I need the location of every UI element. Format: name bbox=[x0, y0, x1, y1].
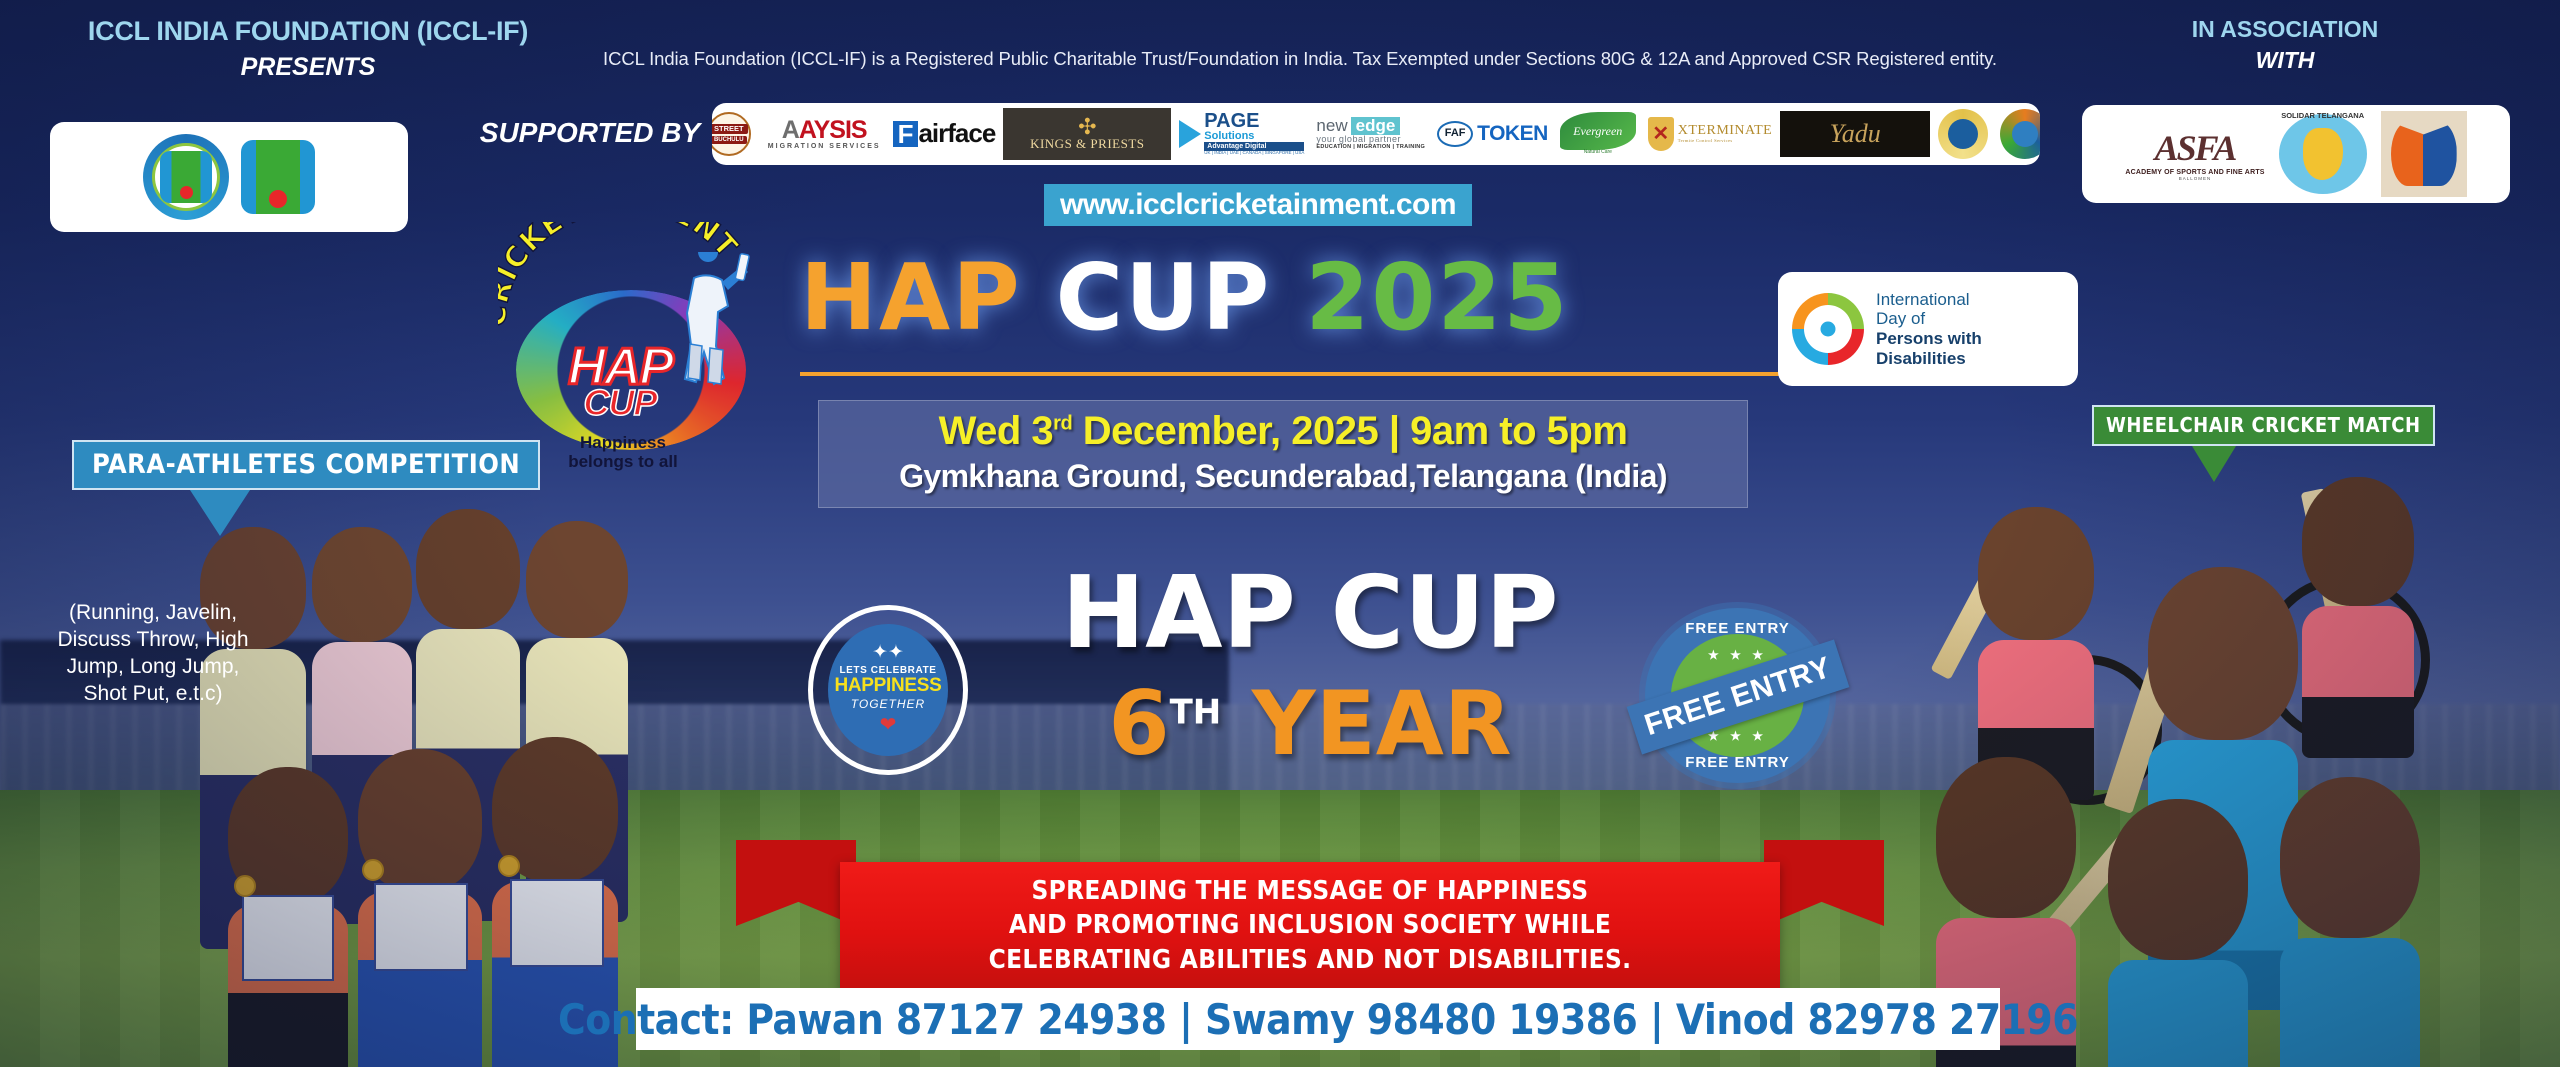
para-events-list: (Running, Javelin, Discuss Throw, High J… bbox=[48, 600, 258, 708]
sponsor-logo-bcci bbox=[1996, 108, 2040, 160]
callout-pointer bbox=[2192, 446, 2236, 482]
international-day-persons-disabilities-card: International Day of Persons with Disabi… bbox=[1778, 272, 2078, 386]
heart-icon: ❤ bbox=[880, 712, 897, 737]
cricketer-photo bbox=[1978, 507, 2094, 767]
hap-cup-tagline: Happiness belongs to all bbox=[528, 434, 718, 471]
event-datetime-venue: Wed 3rd December, 2025 | 9am to 5pm Gymk… bbox=[818, 400, 1748, 508]
mission-statement-ribbon: SPREADING THE MESSAGE OF HAPPINESS AND P… bbox=[840, 862, 1780, 991]
ribbon-line-2: AND PROMOTING INCLUSION SOCIETY WHILE bbox=[840, 908, 1780, 942]
headline-divider bbox=[800, 372, 1790, 376]
callout-pointer bbox=[190, 490, 250, 536]
sponsor-logo-xterminate: ✕ XTERMINATETermite Control Services bbox=[1644, 108, 1776, 160]
cricketer-photo bbox=[2280, 777, 2420, 1067]
association-header: IN ASSOCIATION WITH bbox=[2050, 16, 2520, 74]
cricketainment-hap-cup-logo: CRICKETAINMENT HAP CUP Happiness belongs… bbox=[488, 222, 768, 462]
idpd-text: International Day of Persons with Disabi… bbox=[1876, 290, 1982, 368]
event-venue: Gymkhana Ground, Secunderabad,Telangana … bbox=[833, 458, 1733, 495]
ribbon-line-1: SPREADING THE MESSAGE OF HAPPINESS bbox=[840, 874, 1780, 908]
callout-para-athletes-label: PARA-ATHLETES COMPETITION bbox=[72, 440, 540, 490]
free-entry-stamp: FREE ENTRY ★ ★ ★ ★ ★ ★ FREE ENTRY FREE E… bbox=[1645, 608, 1830, 783]
hap-cup-wordmark: HAP CUP bbox=[530, 344, 710, 419]
contact-bar: Contact: Pawan 87127 24938 | Swamy 98480… bbox=[636, 988, 2000, 1050]
sponsor-logo-street-buchulu: STREET BUCHULU bbox=[712, 108, 760, 160]
contact-numbers[interactable]: Contact: Pawan 87127 24938 | Swamy 98480… bbox=[558, 995, 2078, 1044]
athlete-photo bbox=[228, 767, 348, 1067]
sponsor-logo-yadu: Yadu bbox=[1780, 111, 1930, 157]
solidar-telangana-logo-icon: SOLIDAR TELANGANA bbox=[2279, 114, 2367, 194]
ribbon-body: SPREADING THE MESSAGE OF HAPPINESS AND P… bbox=[840, 862, 1780, 991]
event-date: Wed 3rd December, 2025 | 9am to 5pm bbox=[833, 409, 1733, 454]
sponsor-logo-faf-token: FAF TOKEN bbox=[1433, 108, 1552, 160]
ribbon-line-3: CELEBRATING ABILITIES AND NOT DISABILITI… bbox=[840, 943, 1780, 977]
happiness-seal-badge: ✦✦ LETS CELEBRATE HAPPINESS TOGETHER ❤ bbox=[808, 605, 968, 775]
sparkle-icon: ✦✦ bbox=[872, 643, 904, 662]
registration-disclaimer: ICCL India Foundation (ICCL-IF) is a Reg… bbox=[520, 48, 2080, 70]
callout-wheelchair-label: WHEELCHAIR CRICKET MATCH bbox=[2092, 405, 2435, 446]
certificate bbox=[374, 883, 468, 971]
sponsor-logo-aysis: AAYSIS MIGRATION SERVICES bbox=[764, 108, 885, 160]
certificate bbox=[242, 895, 334, 981]
asfa-logo-icon: ASFA ACADEMY OF SPORTS AND FINE ARTS BAL… bbox=[2125, 127, 2264, 181]
certificate bbox=[510, 879, 604, 967]
sponsor-logo-kings-priests: ✣ KINGS & PRIESTS bbox=[1003, 108, 1171, 160]
india-foundation-logo-icon bbox=[241, 140, 315, 214]
sponsor-logo-evergreen: Evergreen Natural Care bbox=[1556, 108, 1640, 160]
cricketer-photo bbox=[2302, 477, 2414, 727]
sponsor-logo-page-solutions: PAGE Solutions Advantage Digital UK | IN… bbox=[1175, 108, 1308, 160]
headline-cup: CUP bbox=[1056, 244, 1272, 351]
medal-icon bbox=[362, 859, 384, 881]
sponsor-logo-new-edge: new edge your global partner EDUCATION |… bbox=[1312, 108, 1429, 160]
medal-icon bbox=[234, 875, 256, 897]
presenter-header: ICCL INDIA FOUNDATION (ICCL-IF) PRESENTS bbox=[48, 16, 568, 82]
iccl-emblem-icon bbox=[143, 134, 229, 220]
supported-by-label: SUPPORTED BY bbox=[465, 117, 715, 149]
with-label: WITH bbox=[2050, 47, 2520, 74]
main-title-year: 6TH YEAR bbox=[960, 680, 1660, 768]
callout-wheelchair-cricket: WHEELCHAIR CRICKET MATCH bbox=[2092, 405, 2435, 482]
iccl-logo-card bbox=[50, 122, 408, 232]
main-title-hap-cup: HAP CUP bbox=[960, 565, 1660, 660]
headline-hap: HAP bbox=[800, 244, 1022, 351]
in-association-label: IN ASSOCIATION bbox=[2050, 16, 2520, 43]
event-poster: ICCL INDIA FOUNDATION (ICCL-IF) PRESENTS… bbox=[0, 0, 2560, 1067]
presenter-org-name: ICCL INDIA FOUNDATION (ICCL-IF) bbox=[48, 16, 568, 47]
page-title: HAP CUP 2025 bbox=[800, 244, 1800, 351]
idpd-ring-icon bbox=[1792, 293, 1864, 365]
sponsor-logo-strip: STREET BUCHULU AAYSIS MIGRATION SERVICES… bbox=[712, 103, 2040, 165]
wheelchair-cricketers-photo bbox=[1920, 455, 2560, 1067]
athlete-photo bbox=[358, 749, 482, 1067]
main-title-block: HAP CUP 6TH YEAR bbox=[960, 565, 1660, 768]
sponsor-logo-fairface: Fairface bbox=[889, 108, 1000, 160]
cricketer-photo bbox=[2108, 799, 2248, 1067]
medal-icon bbox=[498, 855, 520, 877]
presents-label: PRESENTS bbox=[48, 53, 568, 82]
headline-year: 2025 bbox=[1305, 244, 1569, 351]
unity-figures-logo-icon bbox=[2381, 111, 2467, 197]
callout-para-athletes: PARA-ATHLETES COMPETITION bbox=[72, 440, 540, 536]
association-logo-card: ASFA ACADEMY OF SPORTS AND FINE ARTS BAL… bbox=[2082, 105, 2510, 203]
sponsor-logo-hyderabad-cricket-association bbox=[1934, 108, 1992, 160]
website-url[interactable]: www.icclcricketainment.com bbox=[1044, 184, 1472, 226]
